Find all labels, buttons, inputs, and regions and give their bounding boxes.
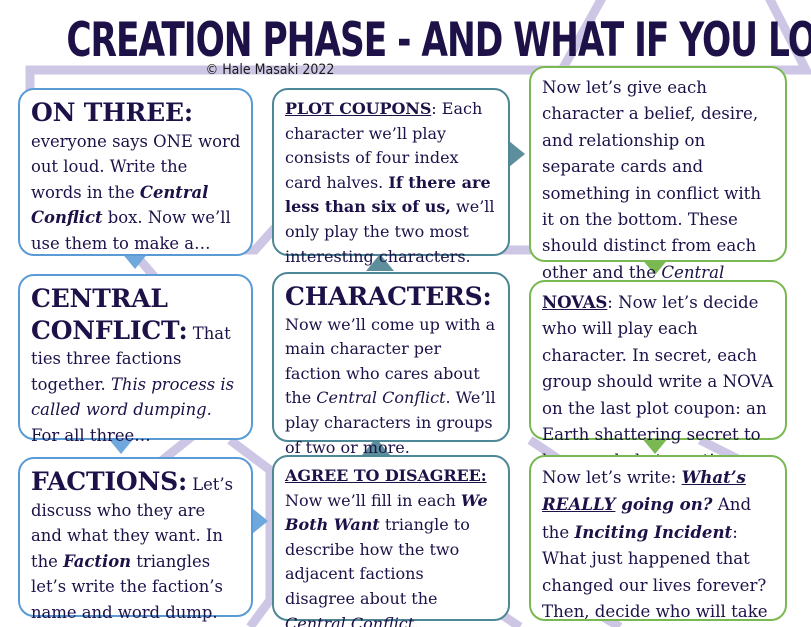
box-central-conflict-body-3: For all three… xyxy=(31,426,151,445)
arrow-factions-to-agree-to-disagree-icon xyxy=(252,508,268,534)
box-on-three[interactable]: ON THREE: everyone says ONE word out lou… xyxy=(18,88,253,256)
box-factions-body-2: Faction xyxy=(63,552,131,571)
box-whats-really-body-3: going on? xyxy=(615,494,712,514)
box-plot-coupons-heading: PLOT COUPONS xyxy=(285,99,431,118)
box-characters-body-2: Central Conflict xyxy=(316,388,445,407)
box-on-three-heading: ON THREE: xyxy=(31,98,193,127)
page-title: CREATION PHASE - AND WHAT IF YOU LOSE? xyxy=(66,16,811,66)
box-central-conflict-heading: CENTRAL CONFLICT: xyxy=(31,284,188,345)
box-central-conflict[interactable]: CENTRAL CONFLICT: That ties three factio… xyxy=(18,274,253,440)
box-beliefs-desires[interactable]: Now let’s give each character a belief, … xyxy=(529,66,787,262)
box-agree-to-disagree-body-5: . xyxy=(414,614,419,627)
arrow-plot-coupons-to-beliefs-icon xyxy=(509,141,525,167)
box-agree-to-disagree-body-4: Central Conflict xyxy=(285,614,414,627)
box-whats-really-going-on[interactable]: Now let’s write: What’s REALLY going on?… xyxy=(529,455,787,621)
box-whats-really-body-5: Inciting Incident xyxy=(574,522,732,542)
box-agree-to-disagree-body-1: Now we’ll fill in each xyxy=(285,491,461,510)
box-factions[interactable]: FACTIONS: Let’s discuss who they are and… xyxy=(18,457,253,617)
copyright-credit: © Hale Masaki 2022 xyxy=(27,62,513,78)
box-whats-really-body-1: Now let’s write: xyxy=(542,468,682,487)
box-novas-heading: NOVAS xyxy=(542,292,607,312)
box-beliefs-desires-body-1: Now let’s give each character a belief, … xyxy=(542,78,761,282)
box-plot-coupons[interactable]: PLOT COUPONS: Each character we’ll play … xyxy=(272,88,510,256)
infographic-page: CREATION PHASE - AND WHAT IF YOU LOSE? ©… xyxy=(0,0,811,627)
box-novas[interactable]: NOVAS: Now let’s decide who will play ea… xyxy=(529,280,787,440)
box-agree-to-disagree[interactable]: AGREE TO DISAGREE: Now we’ll fill in eac… xyxy=(272,455,510,621)
box-factions-heading: FACTIONS: xyxy=(31,467,187,496)
page-title-wrapper: CREATION PHASE - AND WHAT IF YOU LOSE? xyxy=(0,16,811,58)
box-novas-body-1: : Now let’s decide who will play each ch… xyxy=(542,293,773,470)
box-on-three-body-1: everyone says ONE word out loud. Write t… xyxy=(31,132,240,202)
box-characters[interactable]: CHARACTERS: Now we’ll come up with a mai… xyxy=(272,272,510,442)
box-characters-heading: CHARACTERS: xyxy=(285,282,492,311)
box-agree-to-disagree-heading: AGREE TO DISAGREE: xyxy=(285,466,487,485)
